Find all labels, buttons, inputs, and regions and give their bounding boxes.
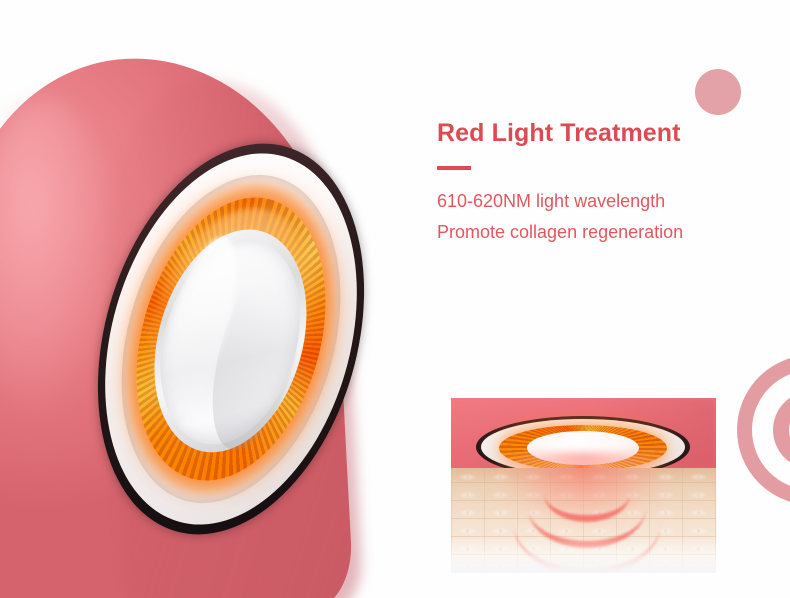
feature-line-collagen: Promote collagen regeneration — [437, 217, 767, 248]
feature-line-wavelength: 610-620NM light wavelength — [437, 186, 767, 217]
pink-circle-decoration — [695, 69, 741, 115]
pink-target-rings-decoration — [737, 355, 790, 505]
feature-text-block: Red Light Treatment 610-620NM light wave… — [437, 118, 767, 248]
page-title: Red Light Treatment — [437, 118, 767, 148]
feature-description: 610-620NM light wavelength Promote colla… — [437, 186, 767, 248]
skin-bottom-fade — [451, 538, 716, 573]
red-light-therapy-device — [0, 58, 430, 598]
headline-underline — [437, 166, 471, 170]
light-penetration-diagram — [451, 398, 716, 573]
product-feature-banner: Red Light Treatment 610-620NM light wave… — [0, 0, 790, 598]
